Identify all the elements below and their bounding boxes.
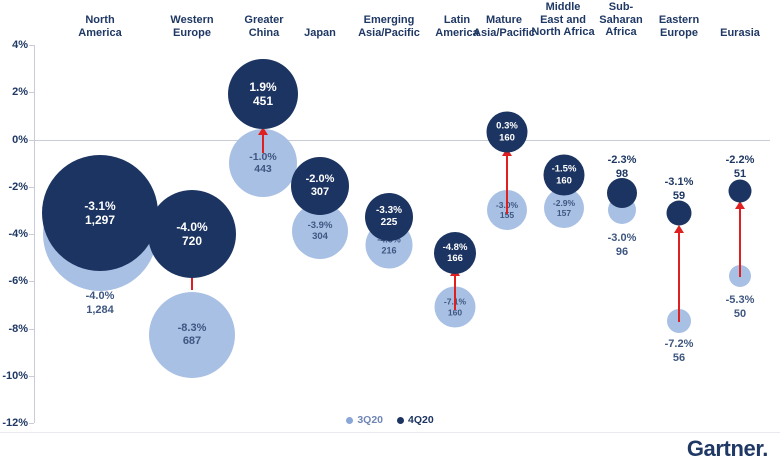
change-arrow-mature-asia-pacific: [501, 148, 513, 214]
bubble-label-4q20-eastern-europe: -3.1%59: [665, 175, 694, 203]
bubble-label-value: 443: [254, 163, 272, 175]
y-tick-label-m8: -8%: [0, 323, 28, 335]
bubble-label-value: 160: [556, 175, 572, 186]
bubble-label-percent: 1.9%: [249, 80, 276, 94]
bubble-label-value: 1,284: [86, 304, 114, 316]
y-tick-m6: [29, 281, 34, 282]
bubble-label-percent: -3.0%: [608, 232, 637, 244]
legend-dot-icon: [397, 417, 404, 424]
change-arrow-eastern-europe: [673, 225, 685, 322]
y-tick-label-0: 0%: [0, 134, 28, 146]
bubble-4q20-western-europe[interactable]: -4.0% 720: [148, 190, 236, 278]
bubble-label-percent: -4.0%: [176, 220, 207, 234]
arrow-shaft: [262, 134, 264, 153]
bubble-label-3q20-north-america: -4.0%1,284: [86, 289, 115, 317]
y-tick-m8: [29, 329, 34, 330]
bubble-label-3q20-sub-saharan-africa: -3.0%96: [608, 231, 637, 259]
bubble-4q20-latin-america[interactable]: -4.8% 166: [434, 232, 476, 274]
bubble-label-percent: -2.0%: [306, 173, 335, 186]
bubble-4q20-emerging-asia-pacific[interactable]: -3.3% 225: [365, 193, 413, 241]
column-header-japan: Japan: [304, 27, 336, 40]
bubble-label-value: 216: [381, 245, 396, 256]
bubble-label-percent: -8.3%: [178, 322, 207, 335]
bubble-4q20-north-america[interactable]: -3.1% 1,297: [42, 155, 158, 271]
bubble-label-percent: -7.2%: [665, 338, 694, 350]
bubble-label-value: 51: [734, 168, 746, 180]
column-header-western-europe: Western Europe: [170, 14, 213, 39]
bubble-label-value: 50: [734, 308, 746, 320]
bubble-label-percent: -3.3%: [376, 205, 402, 217]
bubble-label-percent: -3.9%: [308, 220, 333, 231]
bubble-label-value: 96: [616, 246, 628, 258]
gartner-logo: Gartner.: [687, 436, 768, 462]
footer-divider: [0, 432, 780, 433]
bubble-4q20-eastern-europe[interactable]: [667, 201, 692, 226]
bubble-label-percent: -2.9%: [553, 198, 575, 208]
zero-reference-line: [34, 140, 770, 141]
bubble-label-value: 157: [557, 208, 571, 218]
y-tick-m4: [29, 234, 34, 235]
bubble-3q20-western-europe[interactable]: -8.3% 687: [149, 292, 235, 378]
bubble-4q20-eurasia[interactable]: [729, 180, 752, 203]
bubble-label-percent: -1.5%: [552, 164, 577, 175]
bubble-label-value: 59: [673, 190, 685, 202]
bubble-label-value: 720: [182, 234, 202, 248]
legend-dot-icon: [346, 417, 353, 424]
y-tick-2: [29, 92, 34, 93]
legend-label: 3Q20: [357, 414, 383, 426]
column-header-eastern-europe: Eastern Europe: [659, 14, 699, 39]
bubble-label-percent: -3.1%: [84, 199, 115, 213]
y-axis-line: [34, 45, 35, 423]
chart-legend: 3Q20 4Q20: [0, 414, 780, 426]
legend-item-4q20[interactable]: 4Q20: [397, 414, 434, 426]
column-header-eurasia: Eurasia: [720, 27, 760, 40]
y-tick-label-m4: -4%: [0, 228, 28, 240]
logo-period: .: [762, 436, 768, 461]
arrow-shaft: [506, 155, 508, 214]
bubble-4q20-greater-china[interactable]: 1.9% 451: [228, 59, 298, 129]
y-tick-m2: [29, 187, 34, 188]
y-tick-label-2: 2%: [0, 86, 28, 98]
column-header-mature-asia-pacific: Mature Asia/Pacific: [473, 14, 535, 39]
bubble-label-value: 225: [381, 217, 398, 229]
bubble-label-value: 166: [447, 253, 463, 264]
column-header-emerging-asia-pacific: Emerging Asia/Pacific: [358, 14, 420, 39]
bubble-4q20-japan[interactable]: -2.0% 307: [291, 157, 349, 215]
bubble-4q20-middle-east-north-africa[interactable]: -1.5% 160: [544, 155, 585, 196]
bubble-label-value: 307: [311, 186, 329, 199]
legend-label: 4Q20: [408, 414, 434, 426]
bubble-label-value: 98: [616, 168, 628, 180]
column-header-greater-china: Greater China: [244, 14, 283, 39]
bubble-label-value: 160: [499, 132, 515, 143]
y-tick-label-m2: -2%: [0, 181, 28, 193]
bubble-label-value: 1,297: [85, 213, 115, 227]
bubble-chart: North America Western Europe Greater Chi…: [0, 0, 780, 466]
arrow-shaft: [454, 275, 456, 310]
column-header-middle-east-north-africa: Middle East and North Africa: [531, 1, 594, 39]
y-tick-label-m10: -10%: [0, 370, 28, 382]
column-header-sub-saharan-africa: Sub- Saharan Africa: [599, 1, 642, 39]
legend-item-3q20[interactable]: 3Q20: [346, 414, 383, 426]
bubble-label-value: 56: [673, 352, 685, 364]
bubble-label-4q20-sub-saharan-africa: -2.3%98: [608, 153, 637, 181]
bubble-label-4q20-eurasia: -2.2%51: [726, 153, 755, 181]
logo-text: Gartner: [687, 436, 762, 461]
change-arrow-eurasia: [734, 201, 746, 277]
bubble-label-3q20-eastern-europe: -7.2%56: [665, 337, 694, 365]
bubble-label-percent: -3.1%: [665, 176, 694, 188]
bubble-label-3q20-eurasia: -5.3%50: [726, 293, 755, 321]
change-arrow-greater-china: [257, 127, 269, 153]
change-arrow-latin-america: [449, 268, 461, 310]
arrow-shaft: [678, 232, 680, 322]
plot-area: 4% 2% 0% -2% -4% -6% -8% -10% -12% -3.1%…: [34, 45, 770, 423]
bubble-4q20-sub-saharan-africa[interactable]: [607, 178, 637, 208]
y-tick-4: [29, 45, 34, 46]
bubble-label-percent: -4.0%: [86, 290, 115, 302]
bubble-4q20-mature-asia-pacific[interactable]: 0.3% 160: [487, 112, 528, 153]
bubble-label-percent: 0.3%: [496, 121, 518, 132]
arrow-shaft: [739, 208, 741, 277]
bubble-label-value: 304: [312, 231, 328, 242]
y-tick-label-4: 4%: [0, 39, 28, 51]
bubble-label-percent: -2.2%: [726, 154, 755, 166]
y-tick-label-m6: -6%: [0, 275, 28, 287]
column-header-north-america: North America: [78, 14, 121, 39]
bubble-label-percent: -5.3%: [726, 294, 755, 306]
bubble-label-value: 451: [253, 94, 273, 108]
bubble-label-percent: -2.3%: [608, 154, 637, 166]
bubble-label-value: 687: [183, 335, 201, 348]
bubble-label-percent: -4.8%: [443, 242, 468, 253]
y-tick-m10: [29, 376, 34, 377]
